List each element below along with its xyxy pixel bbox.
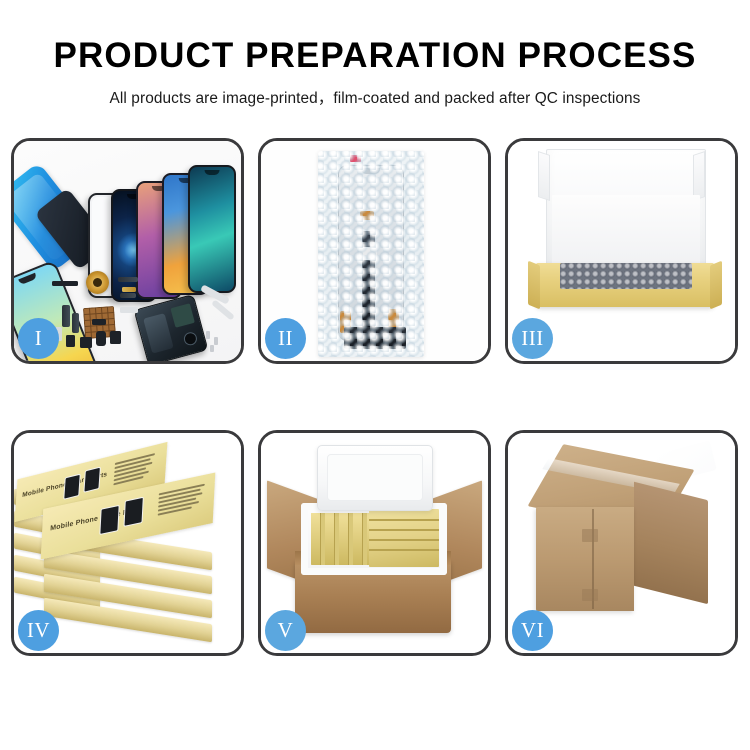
page-header: PRODUCT PREPARATION PROCESS All products… [0,0,750,108]
box-spec-lines-back [113,452,159,487]
opened-phone-chassis [134,294,209,361]
process-step-3: III [505,138,738,364]
spare-part-flex-1 [118,277,138,282]
box-lid-flap-right [693,151,705,201]
bubble-texture-layer-2 [318,151,424,357]
spare-part-flex-2 [62,305,70,327]
box-art-screen-3 [99,505,119,535]
spare-part-taptic [96,331,106,346]
page-root: PRODUCT PREPARATION PROCESS All products… [0,0,750,750]
step-badge-3: III [512,318,553,359]
spare-part-screw-3 [210,345,214,352]
styrofoam-lid [317,445,433,511]
box-lid-flap-left [538,151,550,201]
step-badge-1: I [18,318,59,359]
process-step-5: V [258,430,491,656]
step-badge-4: IV [18,610,59,651]
spare-part-connector [110,331,121,344]
yellow-boxes-stack [369,509,439,567]
copper-coil-part [86,271,109,294]
spare-part-gold-contact [122,287,136,292]
spare-part-screw-2 [214,337,218,345]
carton-handle-tab-top [582,529,598,542]
box-art-screen-1 [63,474,81,500]
bubble-wrap-bag [318,151,424,357]
carton-handle-tab-bottom [582,589,598,601]
grey-bubble-pad [560,263,692,289]
step-badge-6: VI [512,610,553,651]
process-step-6: VI [505,430,738,656]
step-badge-5: V [265,610,306,651]
process-step-4: Mobile Phone Spare Parts [11,430,244,656]
box-art-screen-2 [83,467,101,493]
spare-part-camera-module [80,337,92,348]
process-step-1: I [11,138,244,364]
white-foam-sheet [552,195,700,269]
process-steps-grid: I [11,138,739,686]
spare-part-button [66,335,75,347]
box-art-screen-4 [123,497,143,527]
spare-part-flex-3 [72,313,79,333]
spare-part-screw-1 [206,331,210,339]
process-step-2: II [258,138,491,364]
page-subtitle: All products are image-printed，film-coat… [0,86,750,108]
carton-right-face [634,482,708,604]
spare-part-bracket [92,319,106,325]
page-title: PRODUCT PREPARATION PROCESS [0,36,750,76]
spare-part-speaker [52,281,78,286]
phone-teal-wallpaper [188,165,236,293]
spare-part-antenna [120,307,138,313]
spare-part-flex-4 [120,293,136,298]
step-badge-2: II [265,318,306,359]
box-spec-lines-front [158,483,209,518]
